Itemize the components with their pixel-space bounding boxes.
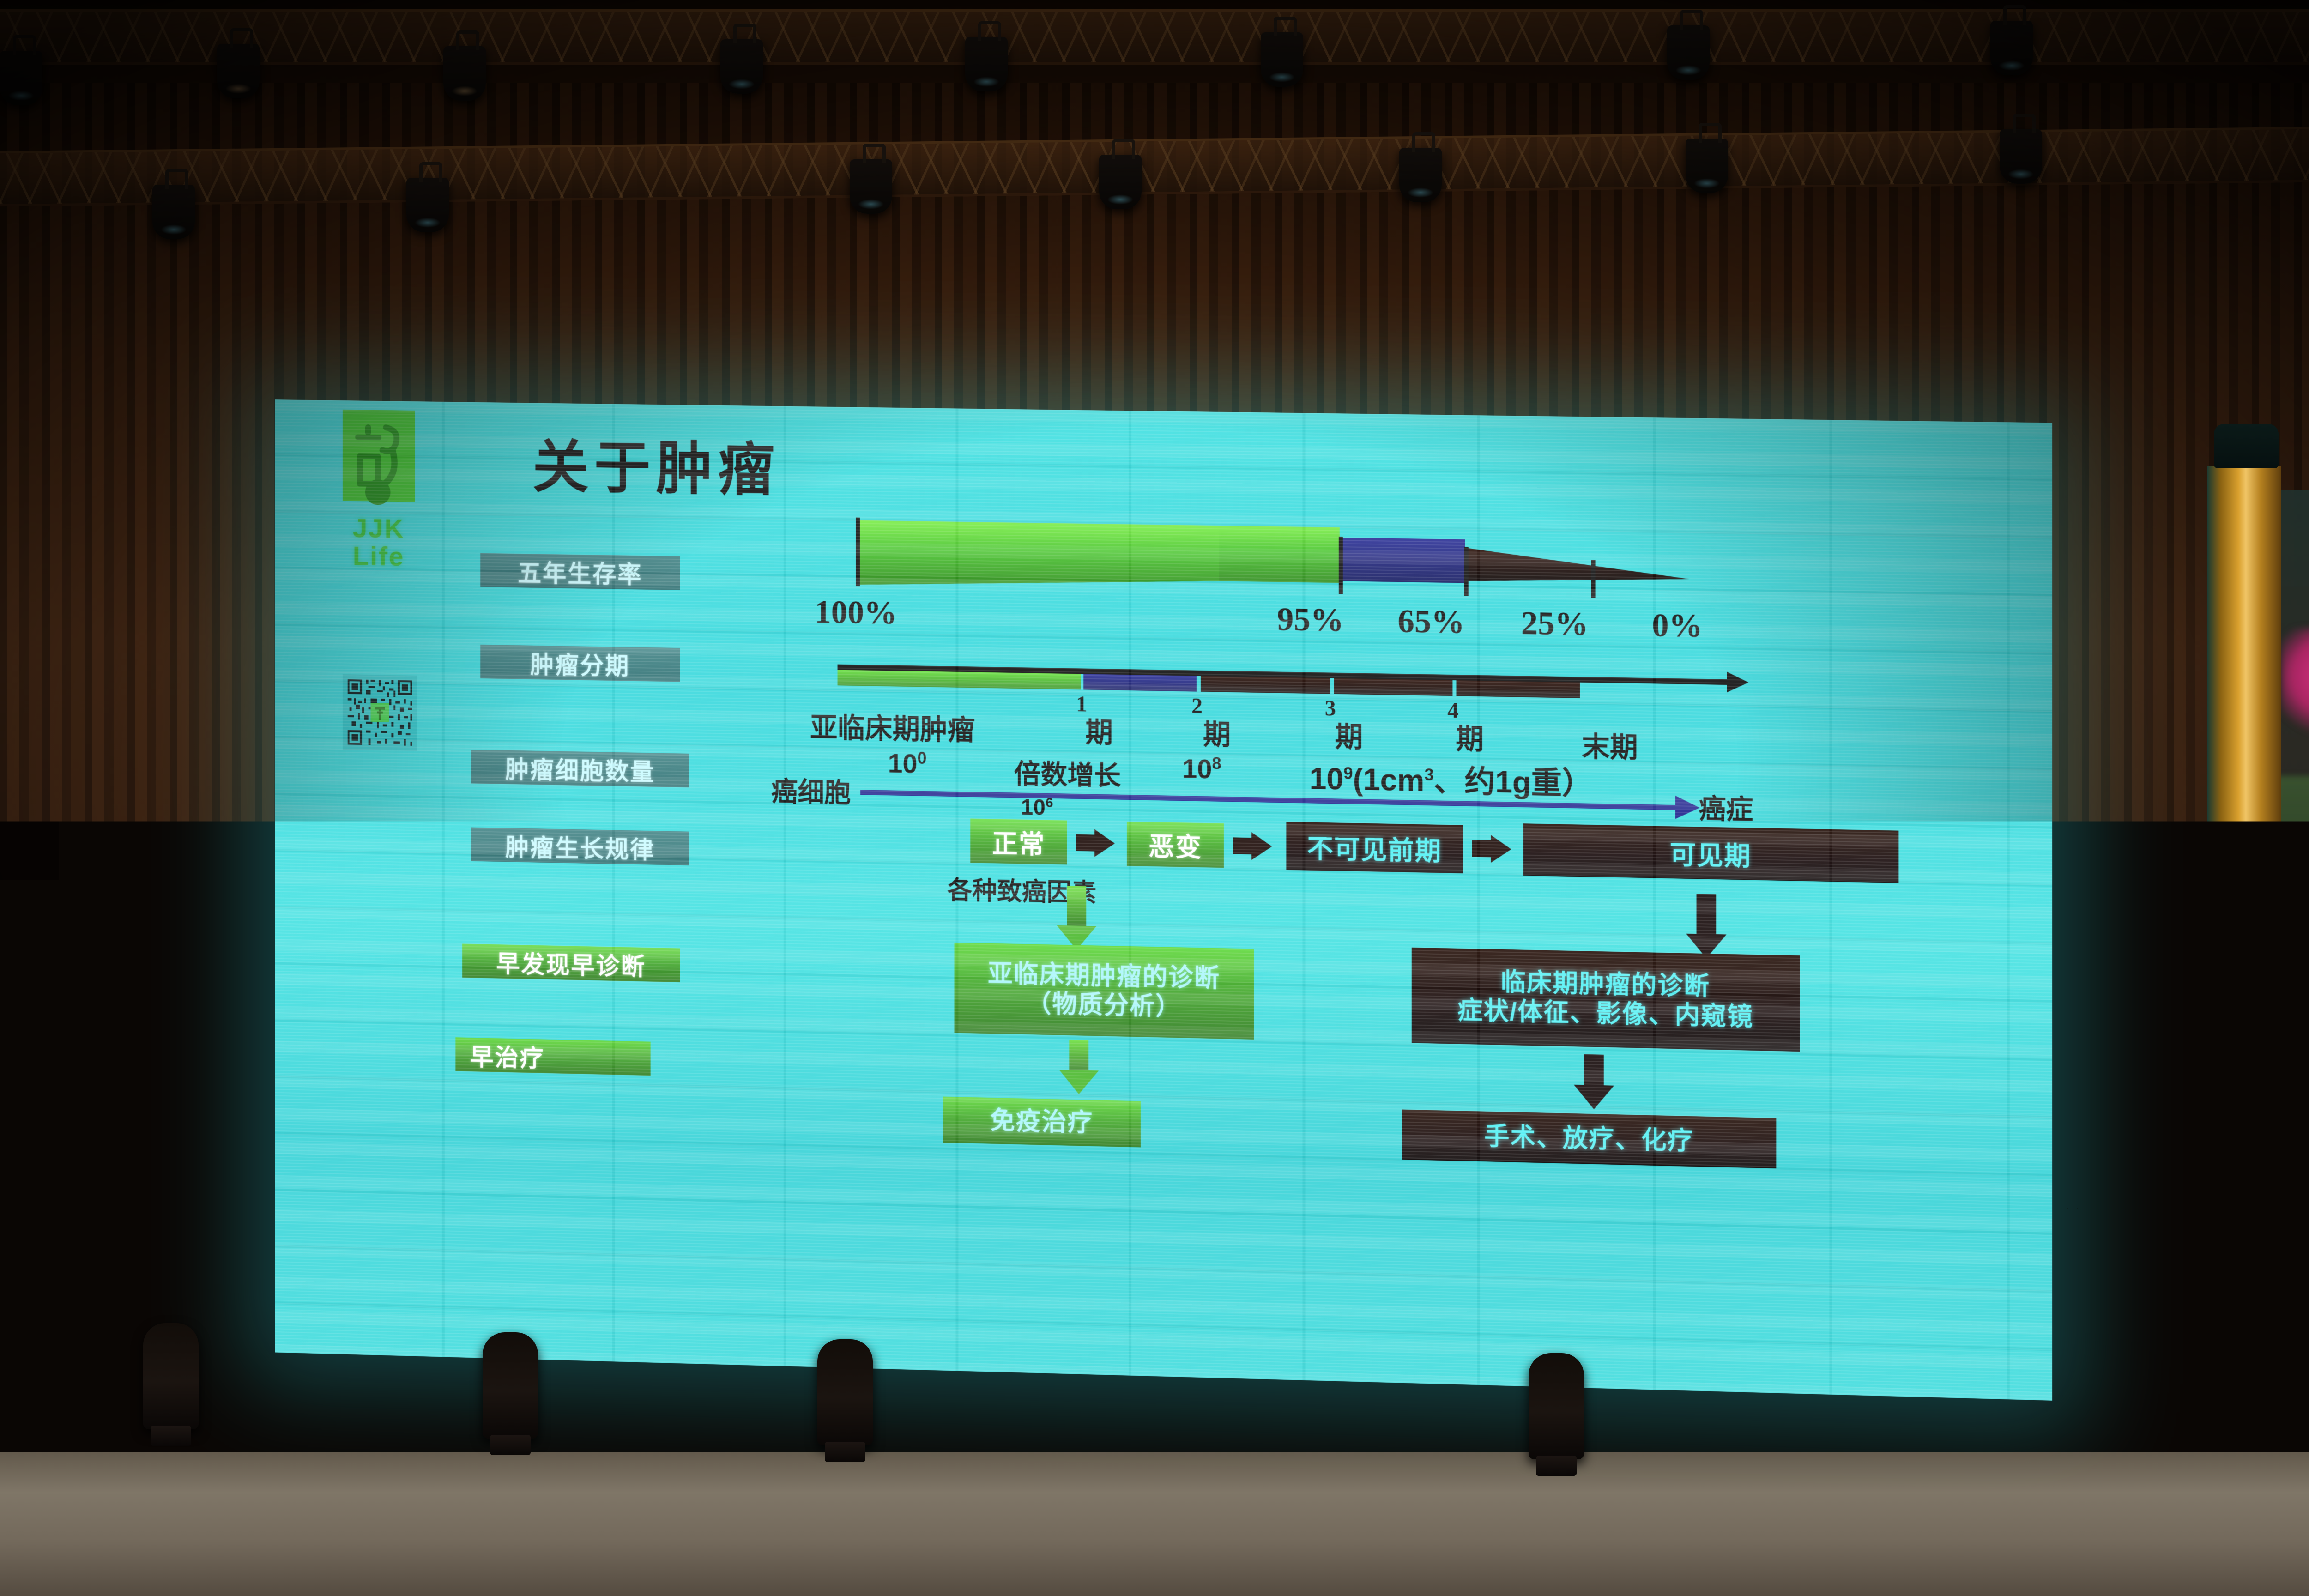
stage-light-icon bbox=[1990, 21, 2033, 75]
stage-segment-4 bbox=[1456, 680, 1580, 698]
cell-multiply-label: 倍数增长 bbox=[1014, 752, 1121, 793]
eyeglasses-icon bbox=[1195, 1066, 1245, 1076]
stage-light-icon bbox=[0, 51, 42, 105]
stage-light-icon bbox=[1686, 139, 1728, 193]
moving-head-light-icon bbox=[817, 1339, 873, 1445]
decorative-column bbox=[2207, 466, 2281, 1436]
clover-seal-icon bbox=[1018, 1335, 1088, 1406]
stage-period-1: 期 bbox=[1085, 710, 1113, 750]
right-arrow-icon bbox=[1491, 835, 1511, 863]
right-arrow-icon bbox=[1094, 829, 1115, 858]
logo-text: JJK Life bbox=[325, 514, 433, 572]
truss-lattice bbox=[0, 12, 2309, 62]
stage-light-icon bbox=[965, 37, 1008, 91]
arrow-stem bbox=[1076, 834, 1095, 852]
stage-segment-2 bbox=[1201, 676, 1330, 694]
page-title: 关于肿瘤 bbox=[532, 420, 780, 506]
speaker-shirt bbox=[1160, 1122, 1294, 1381]
stage-period-4: 期 bbox=[1456, 716, 1484, 757]
right-arrow-icon bbox=[1251, 832, 1272, 860]
row-label-early-treatment: 早治疗 bbox=[455, 1037, 650, 1076]
podium-brand: 慈铭体检 bbox=[1037, 1406, 1069, 1536]
cell-exp9-rest: (1cm bbox=[1353, 762, 1424, 798]
survival-rate-chart bbox=[851, 517, 1699, 599]
speaker-person bbox=[1157, 1030, 1295, 1492]
stage-light-icon bbox=[217, 44, 260, 98]
survival-percent: 25% bbox=[1521, 604, 1589, 644]
stage-light-icon bbox=[1667, 25, 1710, 80]
survival-triangle bbox=[851, 517, 1699, 599]
down-arrow-icon bbox=[1697, 894, 1717, 958]
tumor-stage-axis: 1 2 3 4 bbox=[838, 665, 1727, 701]
axis-arrow-icon bbox=[1727, 672, 1749, 693]
survival-percent: 0% bbox=[1652, 606, 1703, 645]
row-label-staging: 肿瘤分期 bbox=[480, 645, 680, 682]
diagnosis-subclinical-line2: （物质分析） bbox=[1027, 989, 1181, 1022]
moving-head-light-icon bbox=[1912, 1360, 1967, 1466]
therapy-box-immune: 免疫治疗 bbox=[943, 1097, 1141, 1148]
logo-line-2: Life bbox=[325, 542, 433, 572]
survival-percent: 95% bbox=[1277, 600, 1344, 640]
side-screen-flower-image bbox=[2281, 628, 2309, 734]
growth-box-invisible-phase: 不可见前期 bbox=[1286, 822, 1463, 874]
stage-light-icon bbox=[720, 39, 763, 94]
cell-exp9-tail: 、约1g重） bbox=[1434, 763, 1593, 801]
cell-exponent-9-group: 109(1cm3、约1g重） bbox=[1310, 754, 1593, 804]
cell-exp8-base: 10 bbox=[1182, 754, 1212, 785]
stage-segment-3 bbox=[1334, 678, 1453, 696]
cell-exp8-sup: 8 bbox=[1212, 754, 1221, 773]
survival-percent: 100% bbox=[815, 592, 897, 632]
podium: 慈心仁术 铭记民生 慈铭体检 bbox=[937, 1242, 1168, 1596]
diagnosis-box-clinical: 临床期肿瘤的诊断 症状/体征、影像、内窥镜 bbox=[1412, 948, 1800, 1052]
row-label-growth-law: 肿瘤生长规律 bbox=[471, 828, 689, 866]
survival-percent: 65% bbox=[1398, 602, 1465, 641]
growth-box-normal: 正常 bbox=[970, 819, 1067, 865]
laptop-device bbox=[996, 1194, 1115, 1240]
lighting-truss-upper bbox=[0, 9, 2309, 65]
row-label-early-detection: 早发现早诊断 bbox=[462, 944, 680, 982]
row-label-survival: 五年生存率 bbox=[480, 553, 680, 590]
column-cap bbox=[2214, 424, 2279, 468]
moving-head-light-icon bbox=[143, 1323, 199, 1429]
cell-exp0-sup: 0 bbox=[918, 749, 927, 768]
stage-light-icon bbox=[1261, 32, 1303, 87]
podium-slogan: 慈心仁术 铭记民生 bbox=[937, 1263, 1168, 1295]
venue-background: JJK Life bbox=[0, 0, 2309, 1596]
qr-code bbox=[343, 674, 417, 751]
cell-progression-arrow-icon bbox=[1675, 796, 1700, 819]
cell-exp6-base: 10 bbox=[1021, 795, 1046, 820]
stage-light-icon bbox=[2000, 129, 2042, 184]
growth-box-malignant: 恶变 bbox=[1127, 822, 1224, 868]
brand-logo: JJK Life bbox=[325, 409, 433, 571]
speaker-trousers bbox=[1173, 1372, 1280, 1492]
diagnosis-clinical-line2: 症状/体征、影像、内窥镜 bbox=[1457, 996, 1753, 1032]
cell-exponent-0: 100 bbox=[888, 748, 927, 780]
cell-exp0-base: 10 bbox=[888, 749, 918, 779]
diagnosis-subclinical-line1: 亚临床期肿瘤的诊断 bbox=[988, 960, 1220, 993]
cell-exponent-6: 106 bbox=[1021, 795, 1053, 821]
moving-head-light-icon bbox=[483, 1332, 538, 1439]
tumor-growth-law-row: 正常 恶变 不可见前期 可见期 各种致癌因素 bbox=[728, 814, 2052, 981]
stage-light-icon bbox=[443, 46, 486, 101]
arrow-stem bbox=[1472, 840, 1491, 857]
cell-exp9-sup: 9 bbox=[1343, 764, 1353, 783]
down-arrow-icon bbox=[1067, 886, 1086, 950]
diagnosis-clinical-line1: 临床期肿瘤的诊断 bbox=[1500, 968, 1710, 1002]
stage-light-icon bbox=[1099, 155, 1142, 209]
growth-box-visible-phase: 可见期 bbox=[1523, 823, 1899, 883]
moving-head-light-icon bbox=[1529, 1353, 1584, 1459]
cell-end-label: 癌症 bbox=[1699, 787, 1753, 827]
arrow-stem bbox=[1233, 837, 1252, 854]
stage-period-2: 期 bbox=[1203, 712, 1231, 753]
stage-subclinical-label: 亚临床期肿瘤 bbox=[810, 705, 975, 748]
cell-start-label: 癌细胞 bbox=[771, 770, 851, 810]
cell-exp9-base: 10 bbox=[1310, 761, 1344, 796]
survival-percent-labels: 100% 95% 65% 25% 0% bbox=[815, 592, 1741, 647]
stage-light-icon bbox=[850, 159, 892, 214]
cell-exp9-cube: 3 bbox=[1424, 765, 1433, 785]
row-label-cell-count: 肿瘤细胞数量 bbox=[471, 750, 689, 787]
ji-seal-icon bbox=[339, 410, 418, 516]
stage-light-icon bbox=[152, 185, 195, 239]
down-arrow-icon bbox=[1069, 1040, 1088, 1094]
therapy-box-conventional: 手术、放疗、化疗 bbox=[1402, 1110, 1777, 1169]
stage-segment-1 bbox=[1083, 674, 1197, 691]
cell-exponent-8: 108 bbox=[1182, 753, 1221, 785]
stage-light-icon bbox=[1399, 148, 1442, 202]
stage-light-icon bbox=[406, 178, 449, 232]
stage-period-3: 期 bbox=[1335, 714, 1363, 755]
stage-monitor-wedge bbox=[351, 1518, 582, 1596]
logo-line-1: JJK bbox=[353, 514, 405, 544]
down-arrow-icon bbox=[1584, 1054, 1604, 1110]
